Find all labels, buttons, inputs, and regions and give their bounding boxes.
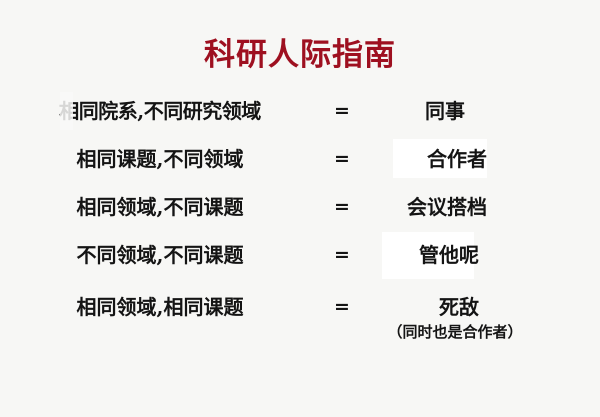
table-row: 不同领域,不同课题 = 管他呢 (0, 236, 600, 274)
row-value-wrap: 管他呢 (360, 236, 560, 274)
left-edge-clip-band (60, 92, 73, 130)
table-row: 相同课题,不同领域 = 合作者 (0, 140, 600, 178)
row-value: 同事 (360, 92, 530, 130)
table-row: 相同领域,不同课题 = 会议搭档 (0, 188, 600, 226)
row-condition: 相同院系,不同研究领域 (0, 92, 326, 130)
row-condition: 相同课题,不同领域 (0, 140, 320, 178)
row-equals-sign: = (330, 92, 354, 130)
value-subnote: （同时也是合作者） (360, 322, 550, 342)
row-equals-sign: = (330, 288, 354, 326)
row-equals-sign: = (330, 188, 354, 226)
table-row: 相同领域,相同课题 = 死敌 (0, 288, 600, 326)
row-value-wrap: 合作者 (360, 140, 560, 178)
row-equals-sign: = (330, 140, 354, 178)
row-condition: 不同领域,不同课题 (0, 236, 320, 274)
row-condition: 相同领域,不同课题 (0, 188, 320, 226)
page-title: 科研人际指南 (0, 36, 600, 74)
row-value: 合作者 (372, 140, 542, 178)
row-condition: 相同领域,相同课题 (0, 288, 320, 326)
row-equals-sign: = (330, 236, 354, 274)
row-value: 管他呢 (364, 236, 534, 274)
row-value-wrap: 同事 (360, 92, 560, 130)
slide-canvas: 科研人际指南 相同院系,不同研究领域 = 同事 相同课题,不同领域 = 合作者 … (0, 0, 600, 417)
row-value: 会议搭档 (362, 188, 532, 226)
row-value-wrap: 死敌 (360, 288, 560, 326)
row-value: 死敌 (374, 288, 544, 326)
row-value-wrap: 会议搭档 (360, 188, 560, 226)
table-row: 相同院系,不同研究领域 = 同事 (0, 92, 600, 130)
